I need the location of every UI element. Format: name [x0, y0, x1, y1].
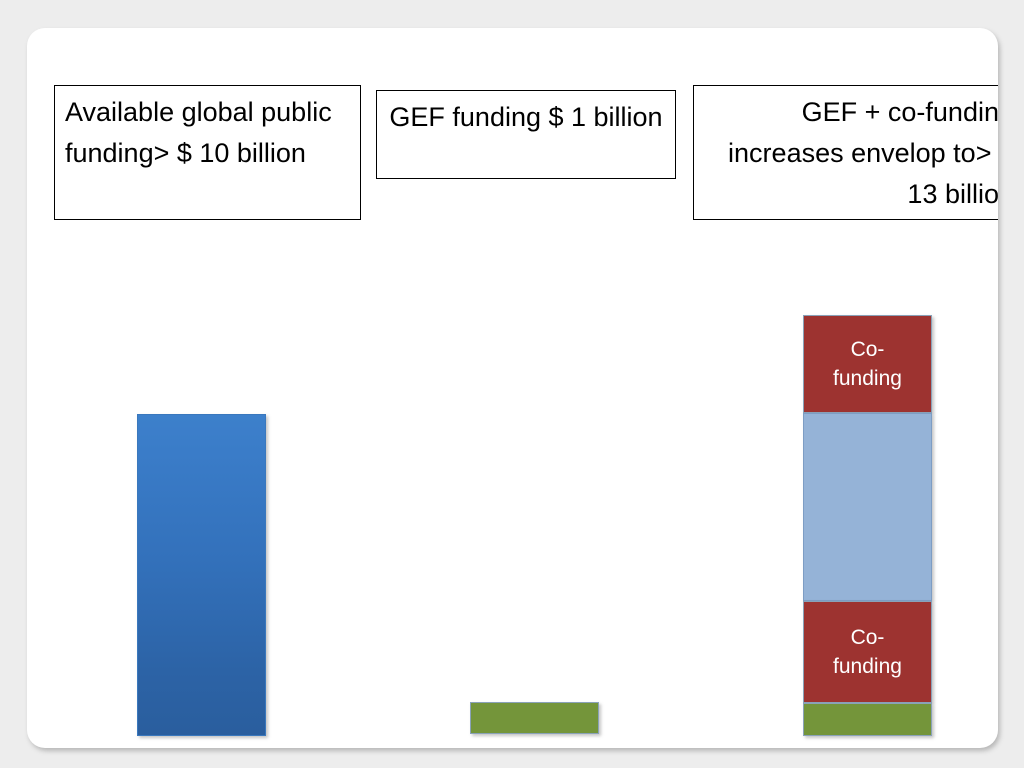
- bar-gef-plus-co-funding-stack: Co- funding Co- funding: [803, 315, 932, 736]
- slide-canvas: Available global public funding> $ 10 bi…: [27, 28, 998, 748]
- bar-segment-envelope-headroom[interactable]: [803, 413, 932, 601]
- bar-gef-funding[interactable]: [470, 702, 599, 734]
- caption-available-global-public-funding[interactable]: Available global public funding> $ 10 bi…: [54, 85, 361, 220]
- bar-segment-co-funding-upper[interactable]: Co- funding: [803, 315, 932, 413]
- bar-available-global-public-funding[interactable]: [137, 414, 266, 736]
- caption-gef-funding[interactable]: GEF funding $ 1 billion: [376, 90, 676, 179]
- caption-gef-plus-co-funding[interactable]: GEF + co-funding increases envelop to> $…: [693, 85, 998, 220]
- bar-segment-co-funding-lower[interactable]: Co- funding: [803, 601, 932, 703]
- bar-segment-gef-funding[interactable]: [803, 703, 932, 736]
